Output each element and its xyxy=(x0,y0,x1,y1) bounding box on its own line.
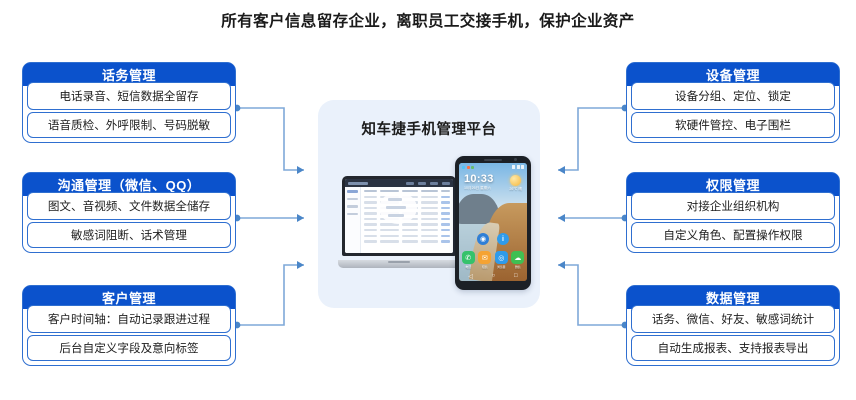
status-icon xyxy=(467,166,470,169)
topbar-menu-item xyxy=(406,182,414,185)
dock-app-label: 浏览器 xyxy=(495,265,508,269)
card-row: 敏感词阻断、话术管理 xyxy=(27,222,231,248)
card-row: 语音质检、外呼限制、号码脱敏 xyxy=(27,112,231,138)
dock-app-label: 电话 xyxy=(462,265,475,269)
table-row xyxy=(364,240,450,242)
info-icon[interactable]: i xyxy=(497,233,509,245)
wifi-icon xyxy=(517,165,520,169)
topbar-menu-item xyxy=(418,182,426,185)
dashboard-topbar-menu xyxy=(406,182,450,185)
phone-dock: ✆ 电话 ✉ 短信 ◎ 浏览器 ☁ 微信 xyxy=(459,251,527,269)
card-quanxian-guanli[interactable]: 权限管理 对接企业组织机构 自定义角色、配置操作权限 xyxy=(626,172,840,253)
card-goutong-guanli[interactable]: 沟通管理（微信、QQ） 图文、音视频、文件数据全储存 敏感词阻断、话术管理 xyxy=(22,172,236,253)
card-shebei-guanli[interactable]: 设备管理 设备分组、定位、锁定 软硬件管控、电子围栏 xyxy=(626,62,840,143)
weather-widget: 26℃ 晴 xyxy=(509,175,522,192)
dashboard-highlight-bubble xyxy=(379,192,417,224)
card-shuju-guanli[interactable]: 数据管理 话务、微信、好友、敏感词统计 自动生成报表、支持报表导出 xyxy=(626,285,840,366)
table-cell xyxy=(421,190,438,192)
laptop-base xyxy=(338,260,460,268)
card-row: 软硬件管控、电子围栏 xyxy=(631,112,835,138)
phone-status-bar xyxy=(459,163,527,171)
battery-icon xyxy=(521,165,524,169)
card-row: 对接企业组织机构 xyxy=(631,192,835,220)
laptop-illustration xyxy=(338,176,460,268)
status-right-icons xyxy=(512,165,524,169)
lockscreen-clock: 10:33 xyxy=(464,174,494,185)
headline-text: 所有客户信息留存企业，离职员工交接手机，保护企业资产 xyxy=(0,9,856,31)
table-header-row xyxy=(364,190,450,192)
browser-app-icon[interactable]: ◎ xyxy=(495,251,508,264)
recents-icon[interactable]: □ xyxy=(514,273,518,279)
phone-screen: 10:33 10月26日 星期六 26℃ 晴 ◉ i ✆ 电话 ✉ 短信 xyxy=(459,163,527,281)
sidebar-item xyxy=(347,190,358,193)
table-row xyxy=(364,223,450,225)
home-icon[interactable]: ○ xyxy=(492,273,496,279)
status-left-icons xyxy=(462,166,474,169)
sidebar-item xyxy=(347,198,358,201)
status-icon xyxy=(462,166,465,169)
laptop-lid xyxy=(342,176,456,256)
back-icon[interactable]: ◁ xyxy=(468,273,473,280)
dashboard-sidebar xyxy=(345,187,361,253)
dock-app[interactable]: ☁ 微信 xyxy=(511,251,524,269)
card-kehu-guanli[interactable]: 客户管理 客户时间轴：自动记录跟进过程 后台自定义字段及意向标签 xyxy=(22,285,236,366)
wechat-app-icon[interactable]: ☁ xyxy=(511,251,524,264)
card-row: 图文、音视频、文件数据全储存 xyxy=(27,192,231,220)
signal-icon xyxy=(512,165,515,169)
connector-left-group xyxy=(236,60,326,330)
phone-nav-bar: ◁ ○ □ xyxy=(459,271,527,281)
card-huawu-guanli[interactable]: 话务管理 电话录音、短信数据全留存 语音质检、外呼限制、号码脱敏 xyxy=(22,62,236,143)
platform-title: 知车捷手机管理平台 xyxy=(318,118,540,139)
dock-app-label: 短信 xyxy=(478,265,491,269)
sidebar-item xyxy=(347,205,358,208)
card-row: 设备分组、定位、锁定 xyxy=(631,82,835,110)
sun-icon xyxy=(510,175,521,186)
card-row: 自定义角色、配置操作权限 xyxy=(631,222,835,248)
dashboard-topbar xyxy=(345,179,453,187)
card-row: 话务、微信、好友、敏感词统计 xyxy=(631,305,835,333)
phone-illustration: 10:33 10月26日 星期六 26℃ 晴 ◉ i ✆ 电话 ✉ 短信 xyxy=(455,156,531,290)
table-row xyxy=(364,229,450,231)
table-cell xyxy=(441,190,450,192)
card-row: 电话录音、短信数据全留存 xyxy=(27,82,231,110)
table-row xyxy=(364,235,450,237)
table-cell xyxy=(364,190,377,192)
phone-mid-icons: ◉ i xyxy=(459,233,527,245)
topbar-menu-item xyxy=(442,182,450,185)
card-row: 客户时间轴：自动记录跟进过程 xyxy=(27,305,231,333)
phone-speaker xyxy=(484,159,502,161)
card-row: 后台自定义字段及意向标签 xyxy=(27,335,231,361)
phone-app-icon[interactable]: ✆ xyxy=(462,251,475,264)
laptop-screen xyxy=(345,179,453,253)
lockscreen-date: 10月26日 星期六 xyxy=(464,186,491,191)
connector-right-group xyxy=(538,60,628,330)
phone-camera xyxy=(514,158,517,161)
status-icon xyxy=(471,166,474,169)
card-row: 自动生成报表、支持报表导出 xyxy=(631,335,835,361)
dock-app[interactable]: ◎ 浏览器 xyxy=(495,251,508,269)
weather-temp: 26℃ 晴 xyxy=(509,187,522,192)
sidebar-item xyxy=(347,213,358,216)
dock-app[interactable]: ✉ 短信 xyxy=(478,251,491,269)
infographic-canvas: 所有客户信息留存企业，离职员工交接手机，保护企业资产 xyxy=(0,0,856,400)
dock-app-label: 微信 xyxy=(511,265,524,269)
browser-icon[interactable]: ◉ xyxy=(477,233,489,245)
dock-app[interactable]: ✆ 电话 xyxy=(462,251,475,269)
topbar-menu-item xyxy=(430,182,438,185)
message-app-icon[interactable]: ✉ xyxy=(478,251,491,264)
